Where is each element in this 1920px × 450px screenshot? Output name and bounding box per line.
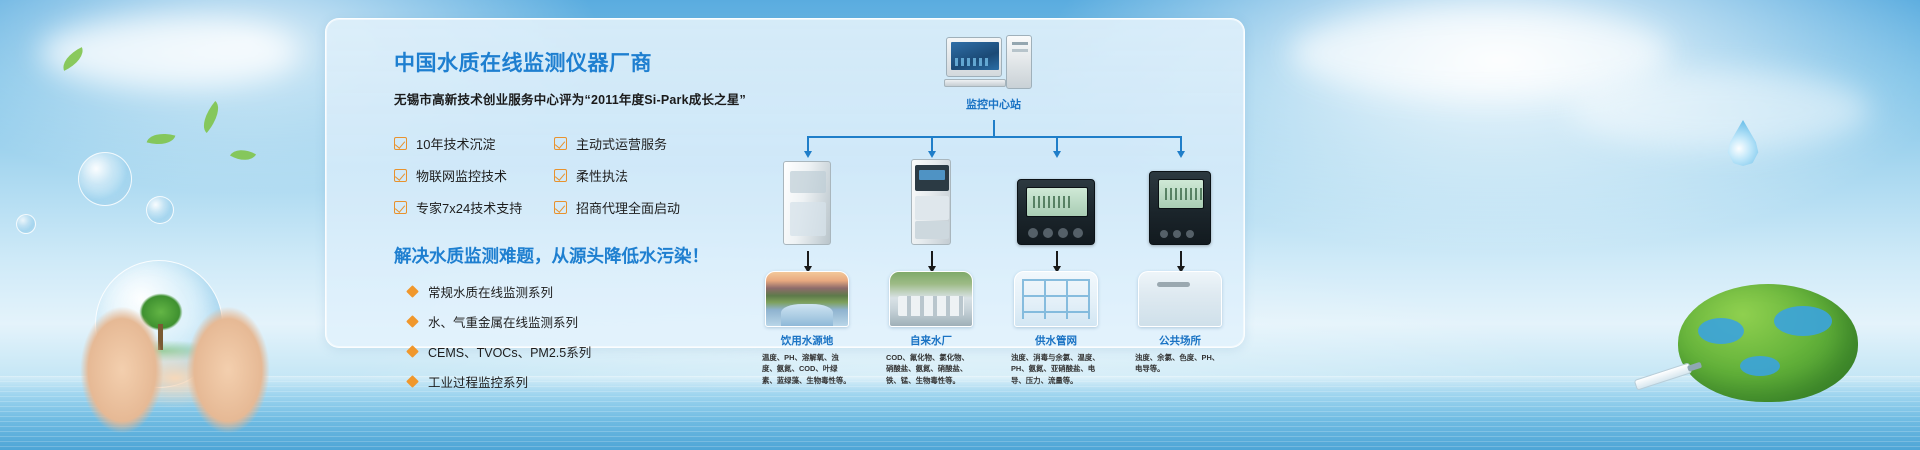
series-item[interactable]: 水、气重金属在线监测系列	[394, 312, 734, 331]
monitoring-center-node: 监控中心站	[946, 35, 1041, 112]
page-title: 中国水质在线监测仪器厂商	[394, 47, 734, 77]
feature-label: 10年技术沉淀	[416, 134, 495, 153]
feature-label: 专家7x24技术支持	[416, 198, 522, 217]
series-list: 常规水质在线监测系列 水、气重金属在线监测系列 CEMS、TVOCs、PM2.5…	[394, 282, 734, 391]
device-column	[885, 157, 977, 245]
diamond-bullet-icon	[406, 345, 419, 358]
content-card: 中国水质在线监测仪器厂商 无锡市高新技术创业服务中心评为“2011年度Si-Pa…	[325, 18, 1245, 348]
checkbox-checked-icon	[394, 169, 407, 182]
application-title: 自来水厂	[885, 333, 977, 348]
series-label: 工业过程监控系列	[428, 372, 528, 391]
series-item[interactable]: 常规水质在线监测系列	[394, 282, 734, 301]
application-parameters: 浊度、消毒与余氯、温度、PH、氨氮、亚硝酸盐、电导、压力、流量等。	[1010, 352, 1102, 386]
flow-arrow-icon	[807, 251, 809, 267]
cloud-decor	[1570, 70, 1870, 150]
screen-shape	[951, 42, 999, 70]
checkbox-checked-icon	[554, 201, 567, 214]
diamond-bullet-icon	[406, 375, 419, 388]
water-analyzer-device-icon	[911, 159, 951, 245]
feature-item[interactable]: 物联网监控技术	[394, 166, 554, 185]
page-subtitle: 无锡市高新技术创业服务中心评为“2011年度Si-Park成长之星”	[394, 89, 734, 108]
feature-label: 主动式运营服务	[576, 134, 667, 153]
feature-item[interactable]: 10年技术沉淀	[394, 134, 554, 153]
application-card[interactable]: 饮用水源地 温度、PH、溶解氧、浊度、氨氮、COD、叶绿素、蓝绿藻、生物毒性等。	[761, 271, 853, 386]
series-item[interactable]: CEMS、TVOCs、PM2.5系列	[394, 342, 734, 361]
system-diagram: 监控中心站	[761, 35, 1221, 335]
feature-item[interactable]: 招商代理全面启动	[554, 198, 714, 217]
bubble-decor	[16, 214, 36, 234]
device-column	[1134, 157, 1226, 245]
monitor-shape	[946, 37, 1002, 77]
connector-branch	[931, 136, 933, 152]
feature-list: 10年技术沉淀 主动式运营服务 物联网监控技术 柔性执法 专家7x24技术支持 …	[394, 134, 734, 217]
device-column	[1010, 157, 1102, 245]
feature-item[interactable]: 主动式运营服务	[554, 134, 714, 153]
sea-shape	[1774, 306, 1832, 336]
wide-controller-device-icon	[1017, 179, 1095, 245]
bubble-decor	[146, 196, 174, 224]
slogan-heading: 解决水质监测难题，从源头降低水污染！	[394, 243, 734, 268]
application-title: 公共场所	[1134, 333, 1226, 348]
diamond-bullet-icon	[406, 315, 419, 328]
analyzer-bottom-panel	[915, 221, 949, 239]
sea-shape	[1740, 356, 1780, 376]
flow-arrow-icon	[1180, 251, 1182, 267]
computer-icon	[946, 35, 1041, 91]
application-card[interactable]: 公共场所 浊度、余氯、色度、PH、电导等。	[1134, 271, 1226, 375]
device-image	[1010, 157, 1102, 245]
waterworks-photo	[889, 271, 973, 327]
checkbox-checked-icon	[394, 201, 407, 214]
series-label: CEMS、TVOCs、PM2.5系列	[428, 342, 591, 361]
controller-lcd	[1158, 179, 1204, 209]
public-tap-photo	[1138, 271, 1222, 327]
controller-buttons	[1160, 230, 1194, 238]
controller-lcd	[1026, 187, 1088, 217]
checkbox-checked-icon	[554, 169, 567, 182]
feature-label: 招商代理全面启动	[576, 198, 680, 217]
connector-branch	[807, 136, 809, 152]
application-parameters: COD、氟化物、氯化物、硝酸盐、氨氮、硝酸盐、铁、锰、生物毒性等。	[885, 352, 977, 386]
device-image	[885, 157, 977, 245]
river-photo	[765, 271, 849, 327]
pipe-network-photo	[1014, 271, 1098, 327]
green-earth-decor	[1678, 284, 1858, 402]
device-column	[761, 157, 853, 245]
flow-arrow-icon	[931, 251, 933, 267]
narrow-controller-device-icon	[1149, 171, 1211, 245]
feature-label: 物联网监控技术	[416, 166, 507, 185]
controller-buttons	[1028, 228, 1083, 238]
series-item[interactable]: 工业过程监控系列	[394, 372, 734, 391]
pc-tower-shape	[1006, 35, 1032, 89]
hands-decor	[60, 250, 310, 450]
checkbox-checked-icon	[554, 137, 567, 150]
feature-label: 柔性执法	[576, 166, 628, 185]
connector-horizontal	[807, 136, 1180, 138]
analyzer-mid-panel	[915, 196, 949, 220]
series-label: 常规水质在线监测系列	[428, 282, 553, 301]
application-parameters: 温度、PH、溶解氧、浊度、氨氮、COD、叶绿素、蓝绿藻、生物毒性等。	[761, 352, 853, 386]
application-title: 饮用水源地	[761, 333, 853, 348]
application-parameters: 浊度、余氯、色度、PH、电导等。	[1134, 352, 1226, 375]
connector-vertical	[993, 120, 995, 136]
diamond-bullet-icon	[406, 285, 419, 298]
bubble-decor	[78, 152, 132, 206]
feature-item[interactable]: 柔性执法	[554, 166, 714, 185]
device-image	[1134, 157, 1226, 245]
analyzer-display	[915, 165, 949, 191]
monitoring-center-label: 监控中心站	[946, 96, 1041, 112]
flow-arrow-icon	[1056, 251, 1058, 267]
text-column: 中国水质在线监测仪器厂商 无锡市高新技术创业服务中心评为“2011年度Si-Pa…	[394, 47, 734, 391]
application-title: 供水管网	[1010, 333, 1102, 348]
sea-shape	[1698, 318, 1744, 344]
application-card[interactable]: 自来水厂 COD、氟化物、氯化物、硝酸盐、氨氮、硝酸盐、铁、锰、生物毒性等。	[885, 271, 977, 386]
device-image	[761, 157, 853, 245]
checkbox-checked-icon	[394, 137, 407, 150]
series-label: 水、气重金属在线监测系列	[428, 312, 578, 331]
feature-item[interactable]: 专家7x24技术支持	[394, 198, 554, 217]
keyboard-shape	[944, 79, 1006, 87]
connector-branch	[1056, 136, 1058, 152]
application-card[interactable]: 供水管网 浊度、消毒与余氯、温度、PH、氨氮、亚硝酸盐、电导、压力、流量等。	[1010, 271, 1102, 386]
water-cabinet-device-icon	[783, 161, 831, 245]
connector-branch	[1180, 136, 1182, 152]
